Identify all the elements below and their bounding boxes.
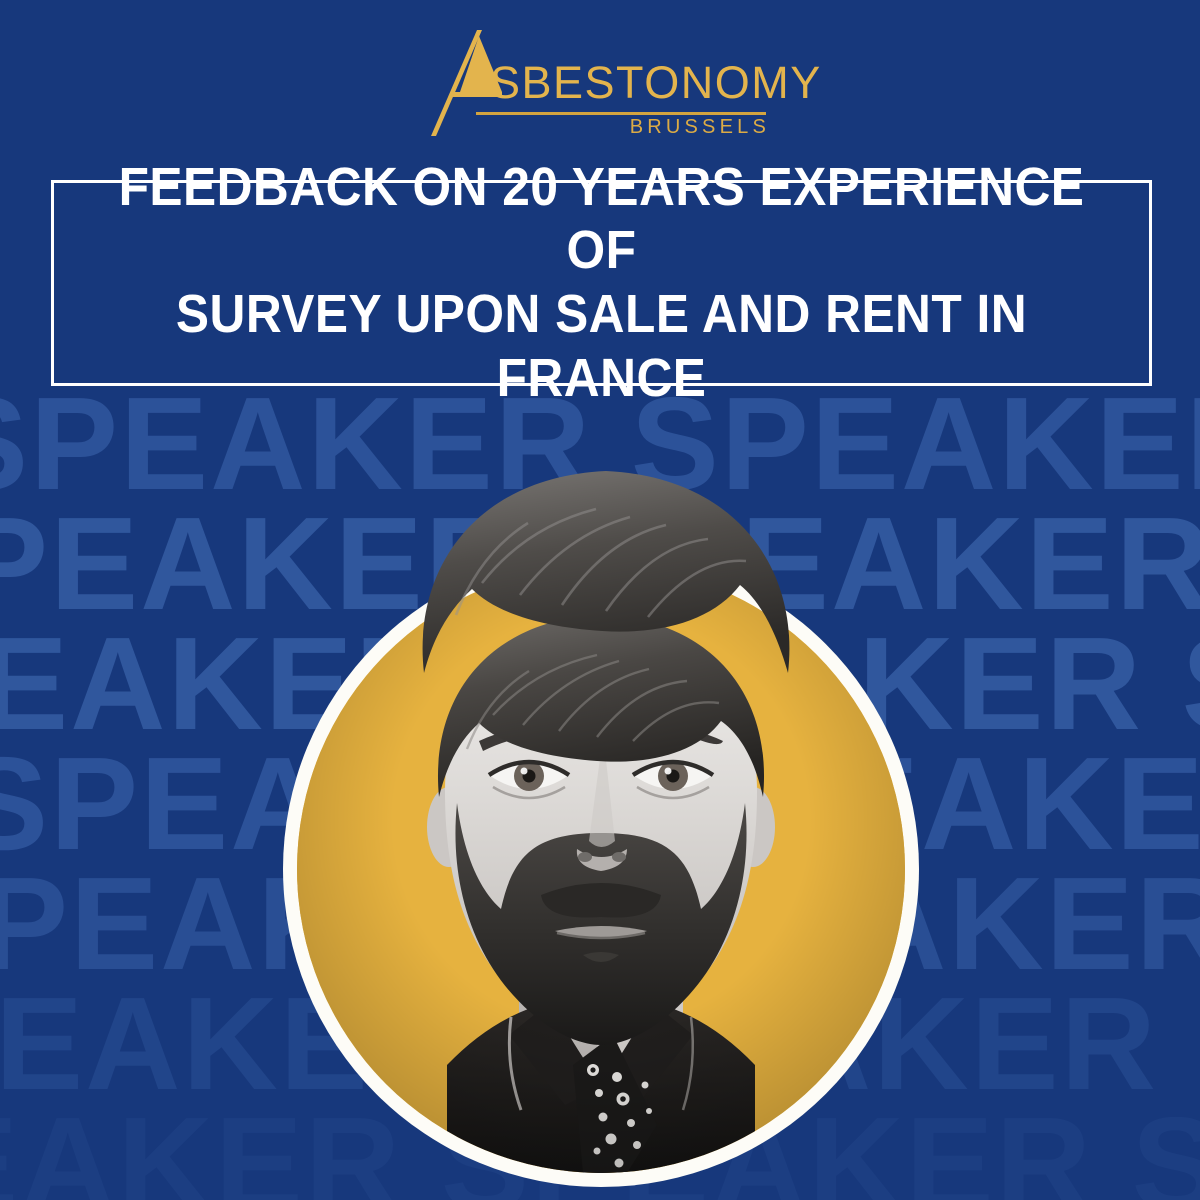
logo-wordmark: SBESTONOMY [490, 57, 822, 109]
logo-divider-rule [476, 112, 766, 115]
title-frame: FEEDBACK ON 20 YEARS EXPERIENCE OF SURVE… [51, 180, 1152, 386]
page-title: FEEDBACK ON 20 YEARS EXPERIENCE OF SURVE… [98, 156, 1105, 411]
hair-overflow-shape [416, 443, 796, 673]
speaker-announcement-poster: SPEAKER SPEAKER SPEAKER SPEAKERSPEAKER S… [0, 0, 1200, 1200]
logo-subtitle: BRUSSELS [630, 116, 770, 139]
portrait-hair-overflow [416, 443, 796, 673]
brand-logo: SBESTONOMY BRUSSELS [0, 30, 1200, 150]
speaker-portrait [283, 551, 919, 1187]
